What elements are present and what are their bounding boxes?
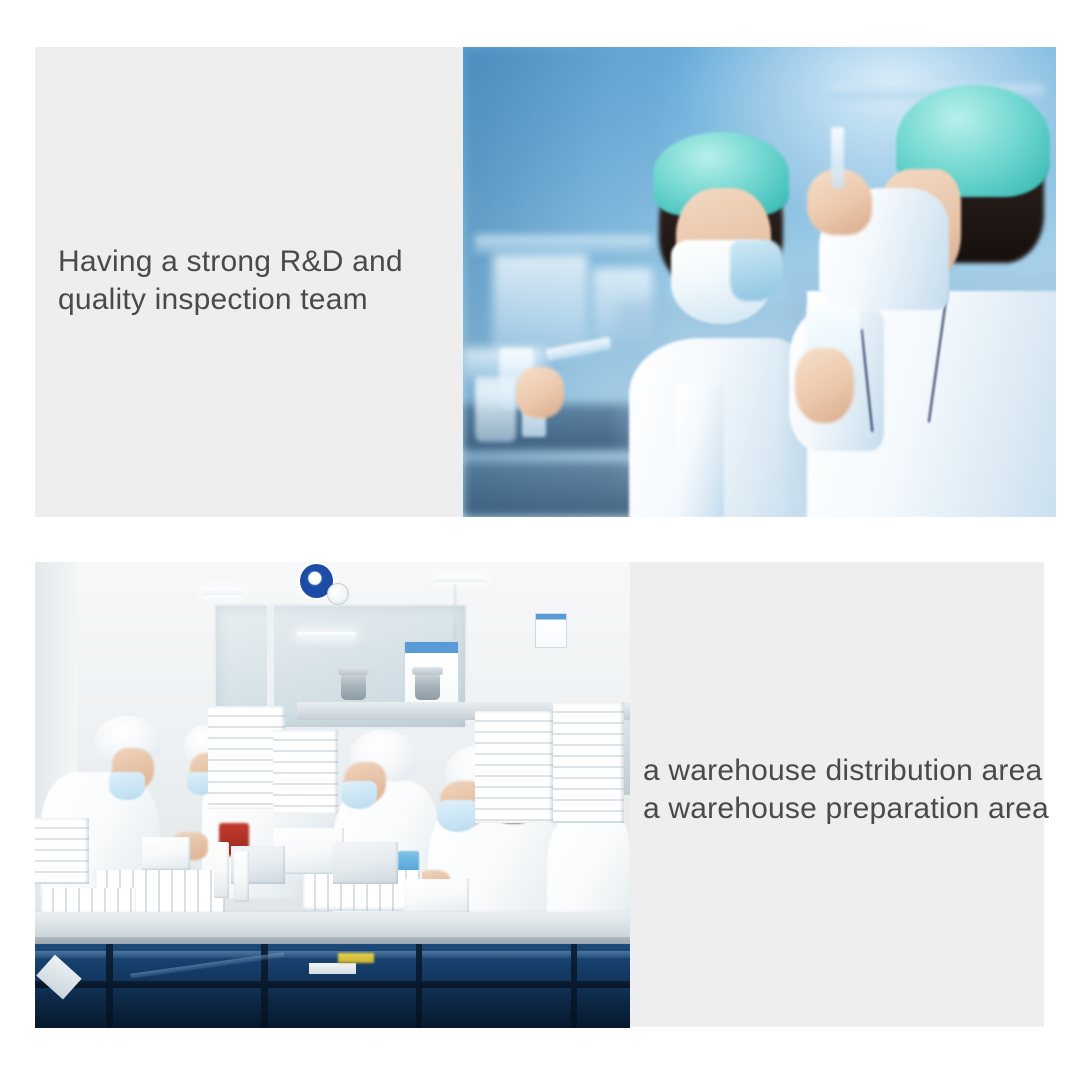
lab-photo-canvas <box>463 47 1056 517</box>
steel-pot-2 <box>415 674 440 700</box>
worker-1-mask <box>109 772 145 800</box>
box-stack-right-tall <box>475 711 552 823</box>
top-caption-line-1: Having a strong R&D and <box>58 243 458 281</box>
warehouse-packing-photo <box>35 562 630 1028</box>
worker-4-mask <box>437 800 479 833</box>
stainless-table-top <box>35 912 630 940</box>
lab-sample-vial-top <box>831 127 844 188</box>
underframe-rail-mid <box>35 981 630 988</box>
underframe-leg-4 <box>571 944 578 1028</box>
wall-notice-2 <box>535 613 567 648</box>
worker-3-mask <box>341 781 377 809</box>
bottom-caption-text: a warehouse distribution area a warehous… <box>643 752 1043 828</box>
underframe-rail-top <box>35 951 630 958</box>
ceiling-light-3 <box>434 576 488 583</box>
lab-left-technician-mask-strap <box>730 240 783 301</box>
bottle-2 <box>234 851 248 902</box>
bottom-caption-line-1: a warehouse distribution area <box>643 752 1043 790</box>
wall-clock <box>327 583 349 606</box>
lab-inspection-photo <box>463 47 1056 517</box>
bottle-1 <box>214 842 229 898</box>
top-caption-text: Having a strong R&D and quality inspecti… <box>58 243 458 319</box>
hanging-cable <box>454 585 456 641</box>
lab-left-hand <box>516 367 563 419</box>
steel-pot-2-lid <box>412 667 443 675</box>
ceiling-light-1 <box>202 588 244 595</box>
box-stack-center-2 <box>273 730 338 814</box>
lab-left-technician-lapel <box>676 385 723 517</box>
underframe-leg-3 <box>416 944 423 1028</box>
steel-pot-1 <box>341 674 366 700</box>
steel-pot-1-lid <box>338 667 369 675</box>
window-interior-light <box>297 632 357 638</box>
box-center-right <box>333 842 398 884</box>
bottom-caption-line-2: a warehouse preparation area <box>643 790 1043 828</box>
warehouse-photo-canvas <box>35 562 630 1028</box>
box-stack-left <box>35 818 89 883</box>
lab-shelf-upper <box>475 235 653 254</box>
box-stack-far-right <box>553 702 624 823</box>
lab-gloved-hand-lower <box>795 348 854 423</box>
underframe-leg-1 <box>106 944 113 1028</box>
box-left-front <box>142 837 190 870</box>
underframe-yellow-tape <box>338 953 374 962</box>
lab-equipment-left <box>493 254 588 357</box>
top-caption-line-2: quality inspection team <box>58 281 458 319</box>
underframe-paper <box>309 963 357 975</box>
